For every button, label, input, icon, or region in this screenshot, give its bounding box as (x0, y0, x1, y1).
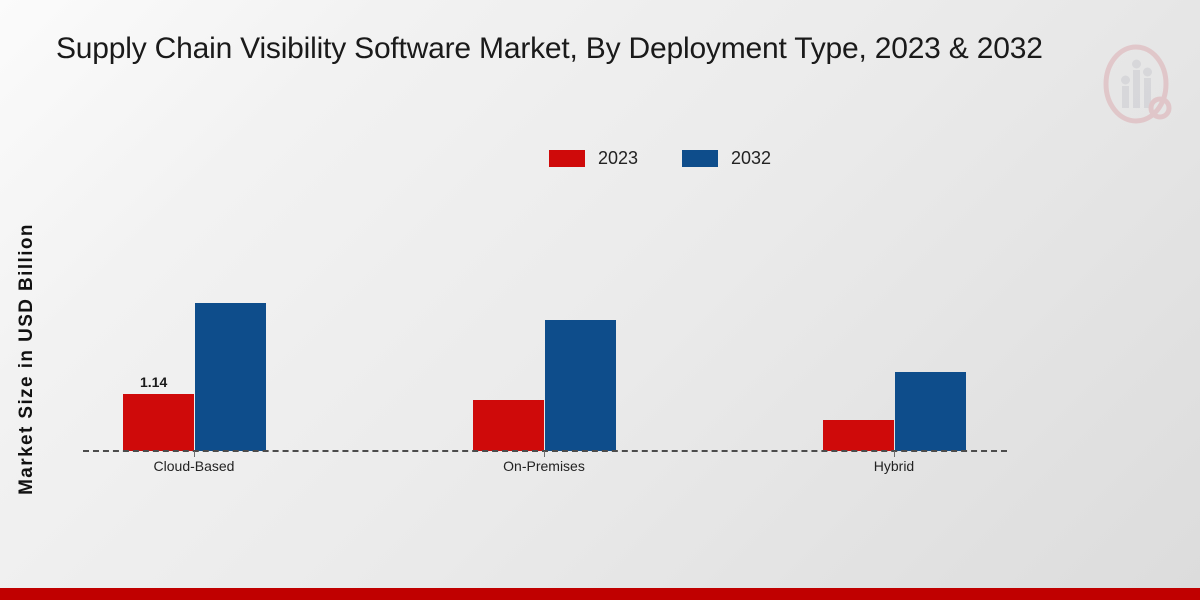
legend-swatch-2032-icon (682, 150, 718, 167)
legend-label-2032: 2032 (731, 148, 771, 169)
legend-item-2032[interactable]: 2032 (682, 148, 771, 169)
bar-on-premises-2023[interactable] (473, 400, 544, 451)
category-axis-baseline (83, 450, 1007, 452)
legend-item-2023[interactable]: 2023 (549, 148, 638, 169)
category-tick-1 (544, 451, 545, 457)
chart-title: Supply Chain Visibility Software Market,… (56, 32, 1176, 66)
bar-on-premises-2032[interactable] (545, 320, 616, 451)
category-label-on-premises: On-Premises (464, 458, 624, 474)
bar-cloud-based-2023[interactable] (123, 394, 194, 451)
bar-value-label-cloud-based-2023: 1.14 (140, 374, 167, 390)
bar-cloud-based-2032[interactable] (195, 303, 266, 451)
category-tick-0 (194, 451, 195, 457)
category-tick-2 (894, 451, 895, 457)
chart-canvas: Supply Chain Visibility Software Market,… (0, 0, 1200, 600)
category-label-cloud-based: Cloud-Based (114, 458, 274, 474)
category-label-hybrid: Hybrid (814, 458, 974, 474)
bar-hybrid-2023[interactable] (823, 420, 894, 451)
footer-accent-bar (0, 588, 1200, 600)
legend-label-2023: 2023 (598, 148, 638, 169)
legend-swatch-2023-icon (549, 150, 585, 167)
plot-area: 1.14 (83, 180, 1007, 451)
chart-legend: 2023 2032 (0, 148, 1200, 169)
y-axis-title: Market Size in USD Billion (16, 99, 38, 600)
bar-hybrid-2032[interactable] (895, 372, 966, 451)
